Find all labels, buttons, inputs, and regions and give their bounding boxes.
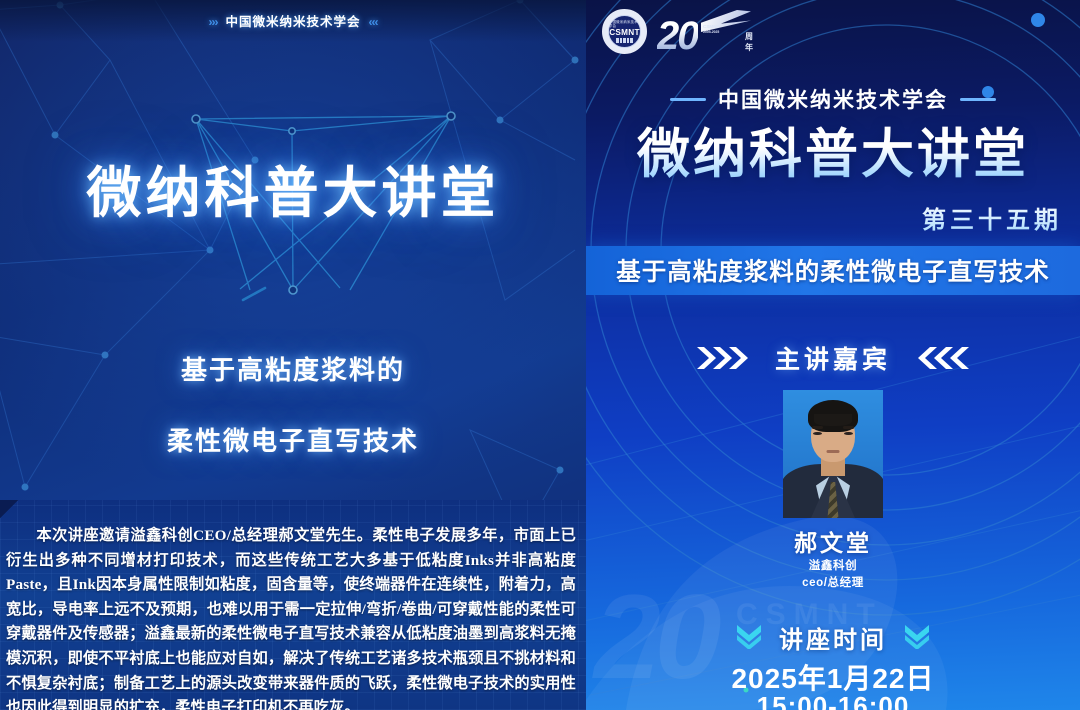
right-main-title: 微纳科普大讲堂	[586, 124, 1080, 186]
left-main-title: 微纳科普大讲堂	[0, 148, 586, 228]
speaker-name: 郝文堂	[586, 524, 1080, 558]
speaker-role: ceo/总经理	[802, 577, 864, 589]
left-subtitle-line-1: 基于高粘度浆料的	[0, 350, 586, 387]
corner-accent	[0, 500, 18, 518]
anniversary-mark-label: CSMNT 2005-2025	[703, 24, 719, 36]
photo-brow-right	[843, 426, 854, 429]
topic-bar: 基于高粘度浆料的柔性微电子直写技术	[586, 246, 1080, 295]
left-description-area: 本次讲座邀请溢鑫科创CEO/总经理郝文堂先生。柔性电子发展多年，市面上已衍生出多…	[0, 500, 586, 710]
photo-brow-left	[812, 426, 823, 429]
guest-heading-text: 主讲嘉宾	[775, 340, 891, 376]
guest-heading-row: 主讲嘉宾	[586, 340, 1080, 376]
poster-root: ›››中国微米纳米技术学会‹‹‹ 微纳科普大讲堂 基于高粘度浆料的 柔性微电子直…	[0, 0, 1080, 710]
anniversary-mark: 20 CSMNT 2005-2025 周年	[657, 8, 698, 54]
speaker-photo	[783, 390, 883, 518]
chevron-left-icon: ‹‹‹	[369, 15, 378, 29]
organization-logo: 中国微米纳米技术学会 CSMNT 20 CSMNT 2005-2025 周年	[602, 8, 698, 54]
left-banner: ›››中国微米纳米技术学会‹‹‹	[0, 11, 586, 30]
chevrons-down-left-icon	[735, 621, 763, 654]
lecture-time: 15:00-16:00	[586, 691, 1080, 710]
rule-right-icon	[960, 98, 996, 101]
left-subtitle-block: 基于高粘度浆料的 柔性微电子直写技术	[0, 350, 586, 458]
rule-left-icon	[670, 98, 706, 101]
chevrons-down-right-icon	[903, 621, 931, 654]
left-description-text: 本次讲座邀请溢鑫科创CEO/总经理郝文堂先生。柔性电子发展多年，市面上已衍生出多…	[6, 524, 576, 710]
anniversary-number: 20	[657, 18, 698, 54]
chevrons-left-icon	[913, 345, 969, 371]
speaker-affiliation: 溢鑫科创 ceo/总经理	[586, 558, 1080, 592]
anniversary-years: 2005-2025	[703, 30, 719, 34]
association-name: 中国微米纳米技术学会	[718, 84, 948, 114]
anniversary-label: 周年	[745, 31, 753, 53]
seal-bars-icon	[616, 38, 633, 43]
anniversary-mark-cn: CSMNT	[703, 24, 719, 29]
topic-title: 基于高粘度浆料的柔性微电子直写技术	[616, 253, 1050, 288]
association-line: 中国微米纳米技术学会	[586, 84, 1080, 114]
speaker-org: 溢鑫科创	[809, 560, 857, 572]
left-banner-text: 中国微米纳米技术学会	[225, 15, 360, 29]
photo-mouth	[827, 450, 840, 453]
left-subtitle-line-2: 柔性微电子直写技术	[0, 421, 586, 458]
seal-chinese-name: 中国微米纳米技术学会	[609, 20, 640, 28]
right-poster-panel: 20 CSMNT 中国微米纳米技术学会 CSMNT 20 CSMNT 2005-…	[586, 0, 1080, 710]
chevron-right-icon: ›››	[208, 15, 217, 29]
issue-number: 第三十五期	[922, 200, 1062, 235]
time-heading-row: 讲座时间	[586, 620, 1080, 655]
seal-english-name: CSMNT	[609, 28, 640, 37]
chevrons-right-icon	[697, 345, 753, 371]
time-heading-text: 讲座时间	[779, 620, 887, 655]
left-slide-panel: ›››中国微米纳米技术学会‹‹‹ 微纳科普大讲堂 基于高粘度浆料的 柔性微电子直…	[0, 0, 586, 710]
csmnt-seal-icon: 中国微米纳米技术学会 CSMNT	[602, 9, 647, 54]
